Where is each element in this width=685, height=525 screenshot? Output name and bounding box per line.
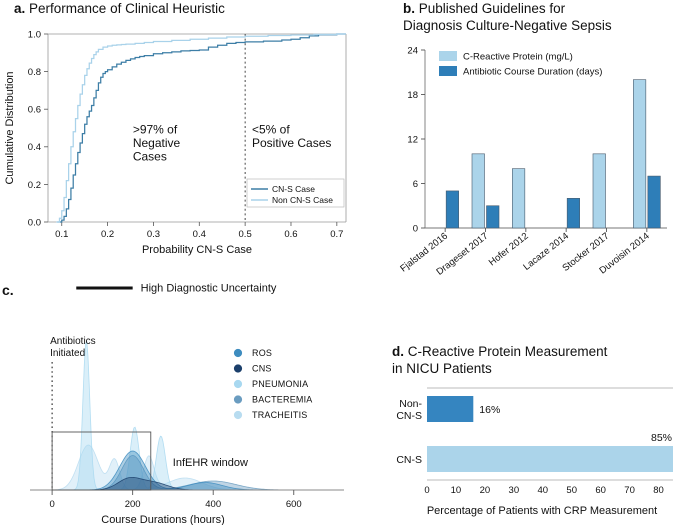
svg-text:6: 6 [413, 179, 418, 190]
panel-b-letter: b. [403, 1, 415, 16]
svg-text:0.4: 0.4 [28, 142, 41, 153]
svg-text:Percentage of Patients with CR: Percentage of Patients with CRP Measurem… [427, 505, 657, 517]
svg-text:24: 24 [407, 46, 418, 57]
svg-text:Non-: Non- [399, 398, 422, 410]
svg-text:Course Durations (hours): Course Durations (hours) [101, 514, 225, 525]
svg-text:0.8: 0.8 [28, 67, 41, 78]
panel-a-plot: 0.00.20.40.60.81.00.10.20.30.40.50.60.7P… [0, 22, 350, 272]
svg-text:80: 80 [653, 485, 664, 496]
svg-text:Negative: Negative [133, 136, 181, 150]
svg-text:0: 0 [49, 499, 54, 510]
svg-text:CN-S: CN-S [396, 454, 422, 466]
panel-d-title-line1: C-Reactive Protein Measurement [408, 344, 608, 359]
panel-c-plot: 0200400600Course Durations (hours)Antibi… [0, 278, 350, 525]
svg-text:C-Reactive Protein (mg/L): C-Reactive Protein (mg/L) [463, 52, 573, 63]
svg-text:InfEHR window: InfEHR window [173, 457, 248, 469]
panel-b: b. Published Guidelines for Diagnosis Cu… [395, 0, 685, 280]
panel-b-plot: 06121824Fjalstad 2016Drageset 2017Hofer … [395, 40, 685, 280]
panel-d-letter: d. [392, 344, 404, 359]
svg-text:0.2: 0.2 [28, 180, 41, 191]
svg-text:16%: 16% [479, 404, 500, 416]
panel-a-title-text: Performance of Clinical Heuristic [29, 1, 225, 16]
svg-text:12: 12 [407, 135, 418, 146]
svg-text:30: 30 [509, 485, 520, 496]
svg-text:0: 0 [413, 224, 418, 235]
svg-text:0.6: 0.6 [28, 105, 41, 116]
svg-text:0.7: 0.7 [330, 229, 343, 240]
svg-text:200: 200 [125, 499, 141, 510]
svg-text:0.1: 0.1 [55, 229, 68, 240]
panel-b-title-line2: Diagnosis Culture-Negative Sepsis [403, 18, 612, 33]
svg-text:10: 10 [451, 485, 462, 496]
panel-d-title-line2: in NICU Patients [392, 361, 492, 376]
panel-a: a. Performance of Clinical Heuristic 0.0… [0, 0, 350, 272]
svg-text:<5% of: <5% of [252, 123, 290, 137]
svg-text:0.5: 0.5 [239, 229, 252, 240]
panel-a-letter: a. [14, 1, 25, 16]
svg-text:40: 40 [537, 485, 548, 496]
svg-text:ROS: ROS [252, 348, 272, 358]
svg-text:Antibiotic Course Duration (da: Antibiotic Course Duration (days) [463, 67, 602, 78]
svg-text:20: 20 [480, 485, 491, 496]
svg-text:0.6: 0.6 [284, 229, 297, 240]
panel-d: d. C-Reactive Protein Measurement in NIC… [385, 340, 685, 525]
svg-text:18: 18 [407, 90, 418, 101]
panel-d-title: d. C-Reactive Protein Measurement in NIC… [392, 343, 607, 377]
svg-text:CNS: CNS [252, 364, 272, 374]
panel-b-title-line1: Published Guidelines for [419, 1, 565, 16]
panel-d-plot: 16%Non-CN-S85%CN-S01020304050607080Perce… [385, 380, 685, 525]
svg-text:High Diagnostic Uncertainty: High Diagnostic Uncertainty [141, 283, 277, 295]
svg-text:400: 400 [205, 499, 221, 510]
svg-text:70: 70 [624, 485, 635, 496]
svg-text:Positive Cases: Positive Cases [252, 136, 331, 150]
svg-text:CN-S: CN-S [396, 410, 422, 422]
svg-text:0.0: 0.0 [28, 217, 41, 228]
panel-b-title: b. Published Guidelines for Diagnosis Cu… [403, 0, 612, 34]
panel-c: c. 0200400600Course Durations (hours)Ant… [0, 278, 350, 525]
svg-text:Non CN-S Case: Non CN-S Case [272, 195, 333, 205]
svg-text:TRACHEITIS: TRACHEITIS [252, 410, 308, 420]
svg-text:1.0: 1.0 [28, 29, 41, 40]
svg-text:0: 0 [424, 485, 429, 496]
svg-text:600: 600 [286, 499, 302, 510]
svg-text:60: 60 [595, 485, 606, 496]
svg-text:Cases: Cases [133, 150, 167, 164]
svg-text:Initiated: Initiated [50, 348, 85, 359]
svg-text:0.2: 0.2 [101, 229, 114, 240]
svg-text:PNEUMONIA: PNEUMONIA [252, 379, 308, 389]
svg-text:0.3: 0.3 [147, 229, 160, 240]
svg-text:0.4: 0.4 [193, 229, 206, 240]
svg-text:Cumulative Distribution: Cumulative Distribution [4, 71, 16, 184]
svg-text:>97% of: >97% of [133, 123, 178, 137]
svg-text:CN-S Case: CN-S Case [272, 184, 315, 194]
svg-text:Antibiotics: Antibiotics [50, 336, 96, 347]
svg-text:50: 50 [566, 485, 577, 496]
panel-a-title: a. Performance of Clinical Heuristic [14, 0, 225, 17]
svg-text:BACTEREMIA: BACTEREMIA [252, 395, 313, 405]
svg-text:85%: 85% [651, 432, 672, 444]
svg-text:Probability CN-S Case: Probability CN-S Case [142, 244, 252, 256]
